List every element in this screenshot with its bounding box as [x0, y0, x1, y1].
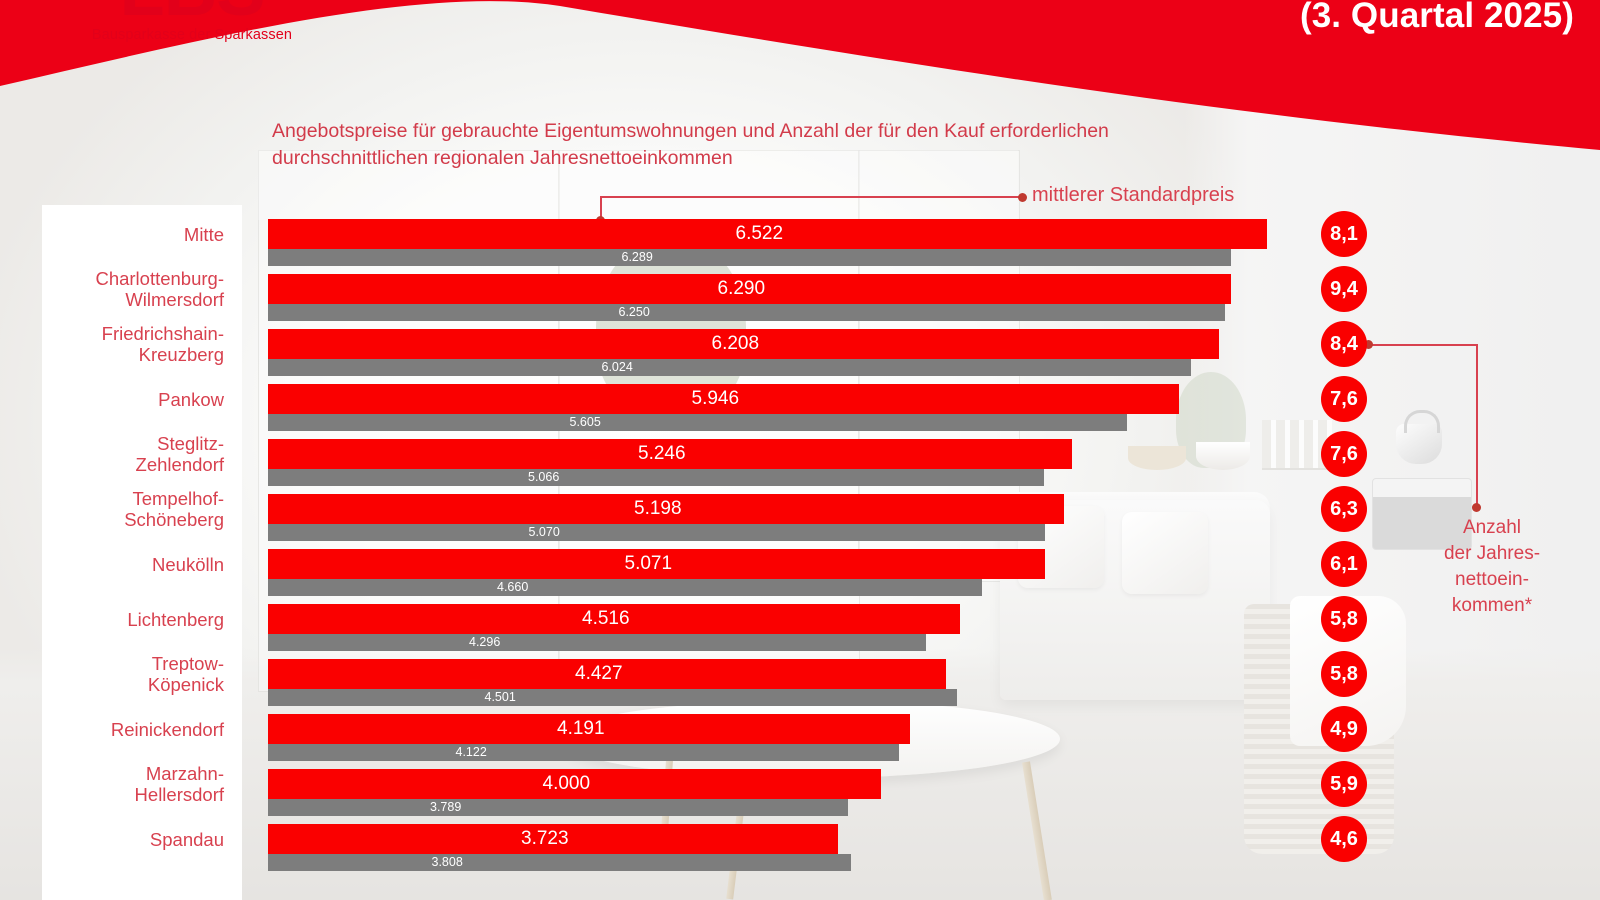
district-label: Charlottenburg-Wilmersdorf [42, 268, 224, 310]
district-label-line: Steglitz- [42, 433, 224, 454]
income-multiple-badge: 6,3 [1321, 486, 1367, 532]
chart-row: Charlottenburg-Wilmersdorf6.2906.2509,4 [0, 255, 1600, 310]
chart-row: Pankow5.9465.6057,6 [0, 365, 1600, 420]
chart-row: Neukölln5.0714.6606,1 [0, 530, 1600, 585]
income-multiple-badge: 7,6 [1321, 431, 1367, 477]
district-label-line: Charlottenburg- [42, 268, 224, 289]
chart-row: Steglitz-Zehlendorf5.2465.0667,6 [0, 420, 1600, 475]
chart-row: Marzahn-Hellersdorf4.0003.7895,9 [0, 750, 1600, 805]
price-bar-value: 4.427 [575, 659, 623, 689]
district-label-line: Hellersdorf [42, 784, 224, 805]
district-label-line: Treptow- [42, 653, 224, 674]
price-bar-value: 6.290 [718, 274, 766, 304]
district-label-line: Pankow [42, 389, 224, 410]
price-bar-value: 6.522 [736, 219, 784, 249]
income-multiple-badge: 5,8 [1321, 596, 1367, 642]
district-label: Steglitz-Zehlendorf [42, 433, 224, 475]
district-label-line: Köpenick [42, 674, 224, 695]
price-bar-value: 4.516 [582, 604, 630, 634]
district-label-line: Marzahn- [42, 763, 224, 784]
district-label: Reinickendorf [42, 719, 224, 740]
district-label: Lichtenberg [42, 609, 224, 630]
district-label-line: Zehlendorf [42, 454, 224, 475]
district-label-line: Kreuzberg [42, 344, 224, 365]
district-label: Tempelhof-Schöneberg [42, 488, 224, 530]
district-label-line: Wilmersdorf [42, 289, 224, 310]
chart-row: Lichtenberg4.5164.2965,8 [0, 585, 1600, 640]
price-bar-value: 4.191 [557, 714, 605, 744]
district-label: Spandau [42, 829, 224, 850]
price-bar-value: 5.071 [625, 549, 673, 579]
chart-row: Spandau3.7233.8084,6 [0, 805, 1600, 860]
bar-chart: Mitte6.5226.2898,1Charlottenburg-Wilmers… [0, 0, 1600, 900]
district-label: Marzahn-Hellersdorf [42, 763, 224, 805]
chart-row: Tempelhof-Schöneberg5.1985.0706,3 [0, 475, 1600, 530]
district-label-line: Friedrichshain- [42, 323, 224, 344]
infographic-canvas: (3. Quartal 2025) LBS Bausparkasse der S… [0, 0, 1600, 900]
price-bar-value: 6.208 [712, 329, 760, 359]
income-multiple-badge: 9,4 [1321, 266, 1367, 312]
district-label-line: Lichtenberg [42, 609, 224, 630]
district-label: Pankow [42, 389, 224, 410]
district-label-line: Spandau [42, 829, 224, 850]
income-multiple-badge: 5,9 [1321, 761, 1367, 807]
income-multiple-badge: 8,4 [1321, 321, 1367, 367]
previous-year-bar [268, 854, 851, 871]
district-label-line: Schöneberg [42, 509, 224, 530]
chart-row: Treptow-Köpenick4.4274.5015,8 [0, 640, 1600, 695]
price-bar-value: 5.946 [692, 384, 740, 414]
district-label-line: Mitte [42, 224, 224, 245]
income-multiple-badge: 5,8 [1321, 651, 1367, 697]
income-multiple-badge: 6,1 [1321, 541, 1367, 587]
district-label: Friedrichshain-Kreuzberg [42, 323, 224, 365]
income-multiple-badge: 4,6 [1321, 816, 1367, 862]
district-label: Neukölln [42, 554, 224, 575]
previous-year-bar-value: 3.808 [432, 854, 463, 871]
district-label-line: Reinickendorf [42, 719, 224, 740]
price-bar-value: 5.198 [634, 494, 682, 524]
chart-row: Friedrichshain-Kreuzberg6.2086.0248,4 [0, 310, 1600, 365]
chart-row: Reinickendorf4.1914.1224,9 [0, 695, 1600, 750]
income-multiple-badge: 7,6 [1321, 376, 1367, 422]
price-bar-value: 3.723 [521, 824, 569, 854]
chart-row: Mitte6.5226.2898,1 [0, 200, 1600, 255]
income-multiple-badge: 4,9 [1321, 706, 1367, 752]
district-label: Treptow-Köpenick [42, 653, 224, 695]
district-label-line: Tempelhof- [42, 488, 224, 509]
district-label: Mitte [42, 224, 224, 245]
district-label-line: Neukölln [42, 554, 224, 575]
price-bar-value: 5.246 [638, 439, 686, 469]
price-bar-value: 4.000 [543, 769, 591, 799]
income-multiple-badge: 8,1 [1321, 211, 1367, 257]
